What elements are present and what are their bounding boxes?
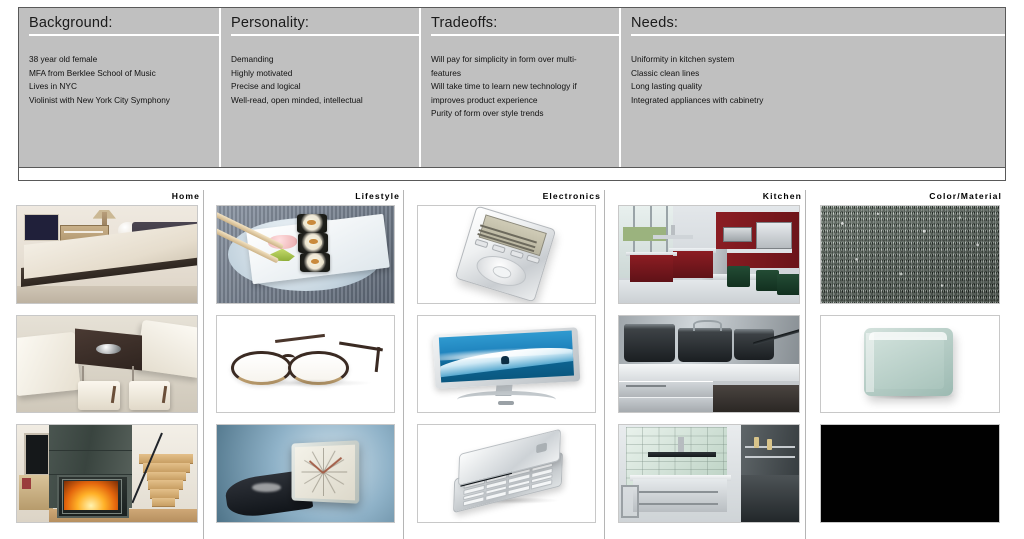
persona-line: Well-read, open minded, intellectual bbox=[231, 94, 411, 108]
persona-line: Long lasting quality bbox=[631, 80, 807, 94]
persona-column-tradeoffs: Tradeoffs: Will pay for simplicity in fo… bbox=[419, 8, 619, 167]
image-modern-platform-bed-bedroom bbox=[17, 206, 197, 303]
board-cell-home-1[interactable] bbox=[16, 205, 198, 304]
persona-line: Classic clean lines bbox=[631, 67, 807, 81]
persona-line: Violinist with New York City Symphony bbox=[29, 94, 211, 108]
board-column-header-electronics: Electronics bbox=[417, 190, 604, 205]
persona-line: Demanding bbox=[231, 53, 411, 67]
persona-panel-footer-strip bbox=[18, 168, 1006, 181]
board-column-kitchen: Kitchen bbox=[618, 190, 806, 539]
board-cell-electronics-2[interactable] bbox=[417, 315, 596, 413]
image-rectangular-wristwatch-on-blue-background bbox=[217, 425, 394, 522]
image-dark-speckled-granite-swatch bbox=[821, 206, 999, 303]
persona-lines-tradeoffs: Will pay for simplicity in form over mul… bbox=[431, 53, 611, 121]
persona-heading-personality: Personality: bbox=[231, 8, 419, 36]
board-cell-electronics-3[interactable] bbox=[417, 424, 596, 523]
board-cell-lifestyle-2[interactable] bbox=[216, 315, 395, 413]
board-cell-lifestyle-1[interactable] bbox=[216, 205, 395, 304]
persona-line: Will take time to learn new technology i… bbox=[431, 80, 593, 107]
persona-summary-panel: Background: 38 year old female MFA from … bbox=[18, 7, 1006, 168]
board-cell-lifestyle-3[interactable] bbox=[216, 424, 395, 523]
persona-line: MFA from Berklee School of Music bbox=[29, 67, 211, 81]
image-slate-fireplace-with-wooden-staircase bbox=[17, 425, 197, 522]
persona-heading-needs: Needs: bbox=[631, 8, 1005, 36]
image-pale-green-glass-tile bbox=[821, 316, 999, 412]
image-red-lacquer-modern-kitchen-with-island bbox=[619, 206, 799, 303]
image-white-portable-mp3-player-with-scroll-wheel bbox=[418, 206, 595, 303]
persona-heading-background: Background: bbox=[29, 8, 219, 36]
board-column-electronics: Electronics bbox=[417, 190, 605, 539]
persona-column-background: Background: 38 year old female MFA from … bbox=[19, 8, 219, 167]
image-white-sofas-dark-coffee-table-living-room bbox=[17, 316, 197, 412]
persona-heading-tradeoffs: Tradeoffs: bbox=[431, 8, 619, 36]
board-column-color-material: Color/Material bbox=[820, 190, 1008, 539]
persona-line: Uniformity in kitchen system bbox=[631, 53, 807, 67]
persona-lines-needs: Uniformity in kitchen system Classic cle… bbox=[631, 53, 997, 107]
board-cell-color-material-2[interactable] bbox=[820, 315, 1000, 413]
image-silver-flip-phone bbox=[418, 425, 595, 522]
board-cell-electronics-1[interactable] bbox=[417, 205, 596, 304]
persona-line: Will pay for simplicity in form over mul… bbox=[431, 53, 593, 80]
image-glass-block-kitchen-with-range-hood bbox=[619, 425, 799, 522]
board-cell-color-material-1[interactable] bbox=[820, 205, 1000, 304]
board-cell-home-2[interactable] bbox=[16, 315, 198, 413]
image-flat-panel-television-showing-surfer bbox=[418, 316, 595, 412]
board-cell-home-3[interactable] bbox=[16, 424, 198, 523]
persona-line: Precise and logical bbox=[231, 80, 411, 94]
board-column-header-color-material: Color/Material bbox=[820, 190, 1008, 205]
board-column-header-lifestyle: Lifestyle bbox=[216, 190, 403, 205]
board-cell-color-material-3[interactable] bbox=[820, 424, 1000, 523]
image-solid-black-swatch bbox=[821, 425, 999, 522]
board-column-lifestyle: Lifestyle bbox=[216, 190, 404, 539]
board-cell-kitchen-2[interactable] bbox=[618, 315, 800, 413]
persona-lines-background: 38 year old female MFA from Berklee Scho… bbox=[29, 53, 211, 107]
board-column-header-home: Home bbox=[16, 190, 203, 205]
image-thin-rimmed-eyeglasses bbox=[217, 316, 394, 412]
persona-line: Integrated appliances with cabinetry bbox=[631, 94, 807, 108]
board-column-home: Home bbox=[16, 190, 204, 539]
mood-board-grid: Home bbox=[0, 190, 1024, 539]
persona-line: Highly motivated bbox=[231, 67, 411, 81]
persona-column-personality: Personality: Demanding Highly motivated … bbox=[219, 8, 419, 167]
board-cell-kitchen-3[interactable] bbox=[618, 424, 800, 523]
persona-line: 38 year old female bbox=[29, 53, 211, 67]
persona-lines-personality: Demanding Highly motivated Precise and l… bbox=[231, 53, 411, 107]
persona-line: Lives in NYC bbox=[29, 80, 211, 94]
image-black-pots-on-stainless-counter bbox=[619, 316, 799, 412]
image-sushi-rolls-on-white-plate-with-chopsticks bbox=[217, 206, 394, 303]
persona-line: Purity of form over style trends bbox=[431, 107, 593, 121]
persona-column-needs: Needs: Uniformity in kitchen system Clas… bbox=[619, 8, 1005, 167]
board-column-header-kitchen: Kitchen bbox=[618, 190, 805, 205]
board-cell-kitchen-1[interactable] bbox=[618, 205, 800, 304]
